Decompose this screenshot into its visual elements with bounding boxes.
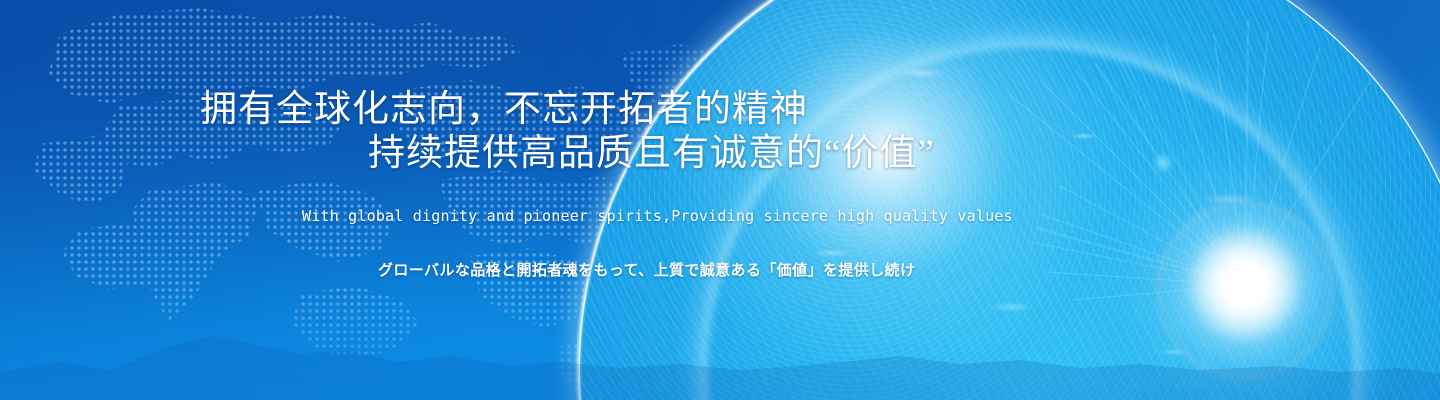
world-map-dots bbox=[0, 0, 900, 400]
page-title: 拥有全球化志向，不忘开拓者的精神 持续提供高品质且有诚意的“价值” bbox=[200, 88, 935, 176]
headline-line-1: 拥有全球化志向，不忘开拓者的精神 bbox=[200, 89, 808, 130]
globe-surface-speckle bbox=[580, 0, 1440, 400]
globe-rim-light bbox=[481, 0, 1440, 400]
subtitle-japanese: グローバルな品格と開拓者魂をもって、上質で誠意ある「価値」を提供し続け bbox=[378, 259, 915, 281]
globe-cloud-texture bbox=[580, 0, 1440, 400]
lens-flare-dot bbox=[1152, 152, 1174, 174]
headline-line-2: 持续提供高品质且有诚意的“价值” bbox=[200, 132, 935, 176]
mountain-silhouette bbox=[0, 320, 1440, 400]
flare-ring bbox=[1155, 200, 1335, 380]
earth-globe-limb bbox=[580, 0, 1440, 400]
dot-matrix-world-map bbox=[0, 0, 900, 400]
sun-flare bbox=[1245, 285, 1247, 287]
light-rays bbox=[0, 0, 1440, 400]
background-horizontal-wash bbox=[0, 0, 1440, 400]
subtitle-english: With global dignity and pioneer spirits,… bbox=[302, 206, 1013, 226]
globe-body bbox=[580, 0, 1440, 400]
hero-banner: 拥有全球化志向，不忘开拓者的精神 持续提供高品质且有诚意的“价值” With g… bbox=[0, 0, 1440, 400]
world-map-fade bbox=[0, 0, 900, 400]
globe-atmosphere-halo bbox=[566, 0, 1440, 400]
hero-copy: 拥有全球化志向，不忘开拓者的精神 持续提供高品质且有诚意的“价值” With g… bbox=[0, 0, 1440, 400]
